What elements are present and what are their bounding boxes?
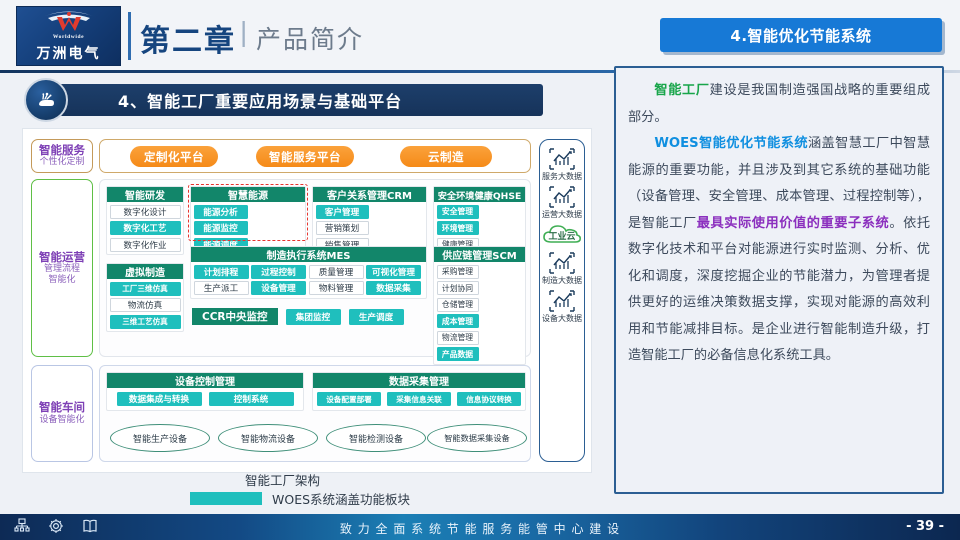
module-chip[interactable]: 数字化作业 (110, 238, 181, 252)
module-chip[interactable]: 物流管理 (437, 331, 479, 345)
chapter-subtitle: 产品简介 (256, 20, 364, 56)
chart-icon (547, 146, 577, 172)
section-heading-bar: 4、智能工厂重要应用场景与基础平台 (58, 84, 543, 116)
title-divider (128, 12, 131, 60)
module-chip[interactable]: 数据集成与转换 (117, 392, 202, 406)
module-chip[interactable]: 数字化工艺 (110, 221, 181, 235)
module-chip[interactable]: 能源分析 (194, 205, 248, 219)
layer-label-line2: 设备智能化 (39, 415, 84, 426)
module-chip[interactable]: 营销策划 (316, 221, 369, 235)
module-chip[interactable]: 物流仿真 (110, 298, 181, 312)
rail-item-label: 运营大数据 (542, 209, 582, 220)
layer-label-smart-workshop: 智能车间 设备智能化 (31, 365, 93, 462)
module-chip[interactable]: 成本管理 (437, 314, 479, 328)
highlight-woes: WOES智能优化节能系统 (654, 136, 808, 151)
ccr-chip[interactable]: 生产调度 (349, 309, 404, 325)
section-heading-text: 4、智能工厂重要应用场景与基础平台 (118, 88, 402, 112)
rail-item-manufacturing-bigdata[interactable]: 制造大数据 (542, 250, 582, 286)
layer-label-line1: 智能车间 (39, 401, 85, 415)
cloud-icon: 工业云 (541, 222, 583, 248)
module-chip[interactable]: 客户管理 (316, 205, 369, 219)
right-panel-title: 4.智能优化节能系统 (730, 25, 871, 46)
legend-swatch (190, 492, 262, 505)
rail-item-service-bigdata[interactable]: 服务大数据 (542, 146, 582, 182)
module-chip[interactable]: 可视化管理 (366, 265, 421, 279)
equipment-ellipse[interactable]: 智能数据采集设备 (427, 424, 527, 452)
platform-pill-custom[interactable]: 定制化平台 (130, 146, 218, 167)
module-header: 供应链管理SCM (434, 247, 525, 262)
ccr-row: CCR中央监控 集团监控 生产调度 (192, 308, 404, 325)
module-card-device-control[interactable]: 设备控制管理 数据集成与转换 控制系统 (106, 372, 304, 411)
module-chip[interactable]: 计划排程 (194, 265, 249, 279)
company-logo: Worldwide 万洲电气 (16, 6, 121, 66)
module-card-scm[interactable]: 供应链管理SCM 采购管理 计划协同 仓储管理 成本管理 物流管理 产品数据 (433, 246, 526, 365)
module-chip[interactable]: 过程控制 (251, 265, 306, 279)
rail-item-label: 工业云 (548, 229, 575, 242)
smart-factory-architecture-diagram: 智能服务 个性化定制 智能运营 管理流程 智能化 智能车间 设备智能化 定制化平… (22, 128, 592, 473)
equipment-ellipse[interactable]: 智能物流设备 (218, 424, 318, 452)
module-header: 制造执行系统MES (191, 247, 426, 262)
module-chip[interactable]: 产品数据 (437, 347, 479, 361)
module-chip[interactable]: 能源监控 (194, 221, 248, 235)
module-header: 智能研发 (107, 187, 183, 202)
platform-pill-cloud-manufacturing[interactable]: 云制造 (400, 146, 492, 167)
chart-icon (547, 250, 577, 276)
layer-label-line1: 智能运营 (39, 251, 85, 265)
layer-label-line1: 智能服务 (39, 144, 85, 158)
module-chip[interactable]: 计划协同 (437, 281, 479, 295)
paragraph-2-tail: 。依托数字化技术和平台对能源进行实时监测、分析、优化和调度，深度挖掘企业的节能潜… (628, 216, 930, 364)
module-chip[interactable]: 设备配置部署 (317, 392, 381, 406)
module-chip[interactable]: 采集信息关联 (387, 392, 451, 406)
module-header: 设备控制管理 (107, 373, 303, 388)
title-separator: | (240, 16, 247, 48)
rail-item-label: 服务大数据 (542, 171, 582, 182)
legend-label: WOES系统涵盖功能板块 (272, 489, 410, 508)
footer-slogan: 致 力 全 面 系 统 节 能 服 务 能 管 中 心 建 设 (0, 520, 960, 537)
module-chip[interactable]: 安全管理 (437, 205, 479, 219)
logo-brand-en: Worldwide (53, 34, 84, 40)
module-header: 安全环境健康QHSE (434, 187, 525, 202)
module-header: 虚拟制造 (107, 264, 183, 279)
footer-bar: 致 力 全 面 系 统 节 能 服 务 能 管 中 心 建 设 - 39 - (0, 514, 960, 540)
operation-layer-area: 智能研发 数字化设计 数字化工艺 数字化作业 虚拟制造 工厂三维仿真 物流仿真 … (99, 179, 531, 357)
chart-icon (547, 288, 577, 314)
module-card-mes[interactable]: 制造执行系统MES 计划排程 过程控制 质量管理 可视化管理 生产派工 设备管理… (190, 246, 427, 299)
rail-item-operation-bigdata[interactable]: 运营大数据 (542, 184, 582, 220)
layer-label-line2: 个性化定制 (39, 157, 84, 168)
rail-item-equipment-bigdata[interactable]: 设备大数据 (542, 288, 582, 324)
module-chip[interactable]: 三维工艺仿真 (110, 315, 181, 329)
module-chip[interactable]: 物料管理 (309, 281, 364, 295)
module-header: 智慧能源 (191, 187, 305, 202)
module-card-virtual-manufacturing[interactable]: 虚拟制造 工厂三维仿真 物流仿真 三维工艺仿真 (106, 263, 184, 332)
rail-item-industrial-cloud[interactable]: 工业云 (541, 222, 583, 248)
chart-icon (547, 184, 577, 210)
right-panel-paragraph-1: 智能工厂建设是我国制造强国战略的重要组成部分。 (628, 78, 930, 131)
module-chip[interactable]: 生产派工 (194, 281, 249, 295)
module-chip[interactable]: 数字化设计 (110, 205, 181, 219)
module-chip[interactable]: 仓储管理 (437, 298, 479, 312)
ccr-chip[interactable]: 集团监控 (286, 309, 341, 325)
highlight-smart-factory: 智能工厂 (654, 83, 709, 98)
workshop-layer-area: 设备控制管理 数据集成与转换 控制系统 数据采集管理 设备配置部署 采集信息关联… (99, 365, 531, 462)
page-number: - 39 - (906, 519, 944, 534)
module-chip[interactable]: 控制系统 (209, 392, 294, 406)
big-data-rail: 服务大数据 运营大数据 工业云 (539, 139, 585, 462)
module-card-rnd[interactable]: 智能研发 数字化设计 数字化工艺 数字化作业 (106, 186, 184, 255)
section-badge-icon (24, 78, 68, 122)
equipment-ellipse[interactable]: 智能检测设备 (326, 424, 426, 452)
rail-item-label: 设备大数据 (542, 313, 582, 324)
module-chip[interactable]: 数据采集 (366, 281, 421, 295)
highlight-key-subsystem: 最具实际使用价值的重要子系统 (697, 216, 890, 231)
logo-mark-icon (41, 9, 97, 33)
module-chip[interactable]: 质量管理 (309, 265, 364, 279)
right-panel-body: 智能工厂建设是我国制造强国战略的重要组成部分。 WOES智能优化节能系统涵盖智慧… (614, 66, 944, 494)
slide-root: Worldwide 万洲电气 第二章 | 产品简介 4、智能工厂重要应用场景与基… (0, 0, 960, 540)
diagram-caption: 智能工厂架构 (245, 470, 320, 489)
module-chip[interactable]: 采购管理 (437, 265, 479, 279)
module-chip[interactable]: 设备管理 (251, 281, 306, 295)
logo-brand-cn: 万洲电气 (37, 43, 101, 63)
rail-item-label: 制造大数据 (542, 275, 582, 286)
layer-label-smart-operation: 智能运营 管理流程 智能化 (31, 179, 93, 357)
layer-label-line2: 管理流程 智能化 (44, 264, 80, 285)
module-card-data-acquisition[interactable]: 数据采集管理 设备配置部署 采集信息关联 信息协议转换 (312, 372, 526, 411)
chapter-title: 第二章 (140, 16, 236, 60)
layer-label-smart-service: 智能服务 个性化定制 (31, 139, 93, 173)
module-header: 数据采集管理 (313, 373, 525, 388)
ccr-header: CCR中央监控 (192, 308, 278, 325)
right-panel-paragraph-2: WOES智能优化节能系统涵盖智慧工厂中智慧能源的重要功能，并且涉及到其它系统的基… (628, 131, 930, 370)
module-card-qhse[interactable]: 安全环境健康QHSE 安全管理 环境管理 健康管理 (433, 186, 526, 255)
right-panel-title-bar: 4.智能优化节能系统 (660, 18, 942, 52)
equipment-ellipse[interactable]: 智能生产设备 (110, 424, 210, 452)
platform-band: 定制化平台 智能服务平台 云制造 (99, 139, 531, 173)
module-chip[interactable]: 环境管理 (437, 221, 479, 235)
module-chip[interactable]: 信息协议转换 (457, 392, 521, 406)
module-chip[interactable]: 工厂三维仿真 (110, 282, 181, 296)
module-header: 客户关系管理CRM (313, 187, 426, 202)
platform-pill-service[interactable]: 智能服务平台 (256, 146, 354, 167)
